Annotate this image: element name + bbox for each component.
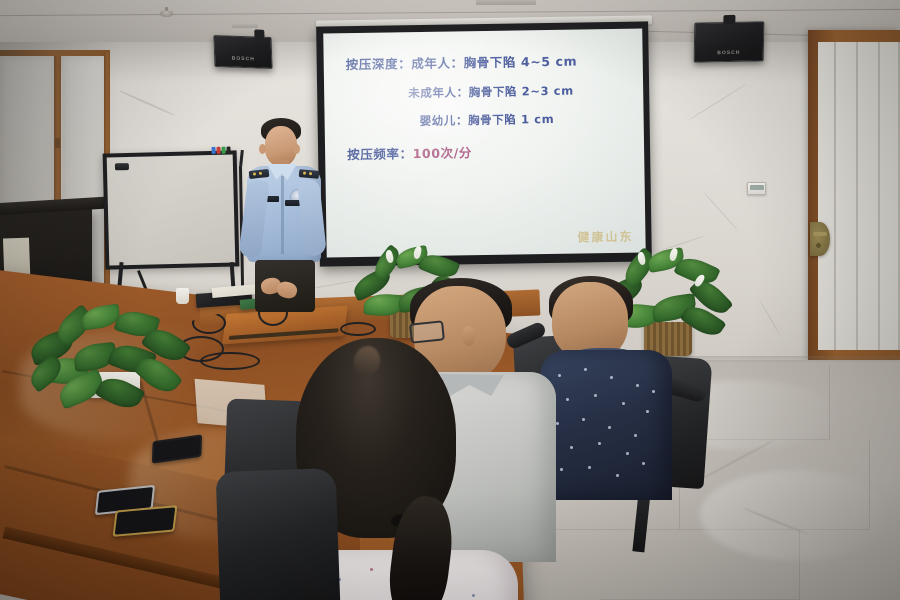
projection-screen-surface: 按压深度：成年人：胸骨下陷 4~5 cm 未成年人：胸骨下陷 2~3 cm 婴幼… xyxy=(323,29,645,258)
projection-screen: 按压深度：成年人：胸骨下陷 4~5 cm 未成年人：胸骨下陷 2~3 cm 婴幼… xyxy=(316,21,652,266)
whiteboard-eraser[interactable] xyxy=(115,163,129,170)
door-keyhole xyxy=(816,243,821,248)
speaker-logo-right: BOSCH xyxy=(717,50,740,56)
wall-speaker-right: BOSCH xyxy=(694,21,765,62)
phone-screen xyxy=(154,437,200,462)
slide-line-4: 按压频率：100次/分 xyxy=(347,147,472,161)
wall-thermostat[interactable] xyxy=(747,182,766,195)
whiteboard-on-easel xyxy=(103,150,240,269)
speaker-logo-left: BOSCH xyxy=(232,56,255,63)
phone-screen xyxy=(115,507,176,534)
whiteboard-markers[interactable] xyxy=(211,146,233,154)
thermostat-display xyxy=(750,185,764,190)
cable-coil xyxy=(200,352,260,370)
presentation-slide: 按压深度：成年人：胸骨下陷 4~5 cm 未成年人：胸骨下陷 2~3 cm 婴幼… xyxy=(323,29,645,258)
slide-line-1: 按压深度：成年人：胸骨下陷 4~5 cm xyxy=(346,56,578,72)
wooden-door[interactable] xyxy=(808,30,900,360)
slide-line-4-value: 100次/分 xyxy=(413,145,472,161)
door-handle-plate[interactable] xyxy=(810,222,830,256)
speaker-bracket xyxy=(254,29,264,38)
smoke-detector-icon xyxy=(160,10,173,17)
door-frosted-glass xyxy=(818,42,900,350)
slide-line-1-value: 成年人：胸骨下陷 4~5 cm xyxy=(411,54,577,72)
pothos-plant-table xyxy=(24,300,194,410)
speaker-bracket xyxy=(723,15,735,24)
door-mullion xyxy=(834,42,836,350)
slide-line-3: 婴幼儿：胸骨下陷 1 cm xyxy=(420,114,555,128)
presenter-ear xyxy=(293,144,300,154)
presenter-ear xyxy=(259,144,266,154)
ceiling-vent xyxy=(232,24,258,28)
door-mullion xyxy=(878,42,880,350)
meeting-room-photo: BOSCH BOSCH 按压深度：成年人：胸骨下陷 4~5 cm 未成年人：胸骨… xyxy=(0,0,900,600)
door-handle[interactable] xyxy=(813,232,827,236)
door-mullion xyxy=(856,42,858,350)
slide-line-2: 未成年人：胸骨下陷 2~3 cm xyxy=(408,86,574,100)
floor-sheen xyxy=(700,470,890,560)
ceiling-vent xyxy=(476,0,536,5)
presenter-shirt-placket xyxy=(281,176,284,254)
wall-speaker-left: BOSCH xyxy=(213,35,272,69)
police-officer-presenter xyxy=(243,120,339,310)
conference-chair-foreground[interactable] xyxy=(216,468,341,600)
slide-watermark: 健康山东 xyxy=(577,228,633,246)
slide-line-1-label: 按压深度： xyxy=(346,56,412,72)
whiteboard-surface xyxy=(107,154,236,265)
presenter-epaulette-right xyxy=(299,169,320,179)
slide-line-4-label: 按压频率： xyxy=(347,146,413,162)
